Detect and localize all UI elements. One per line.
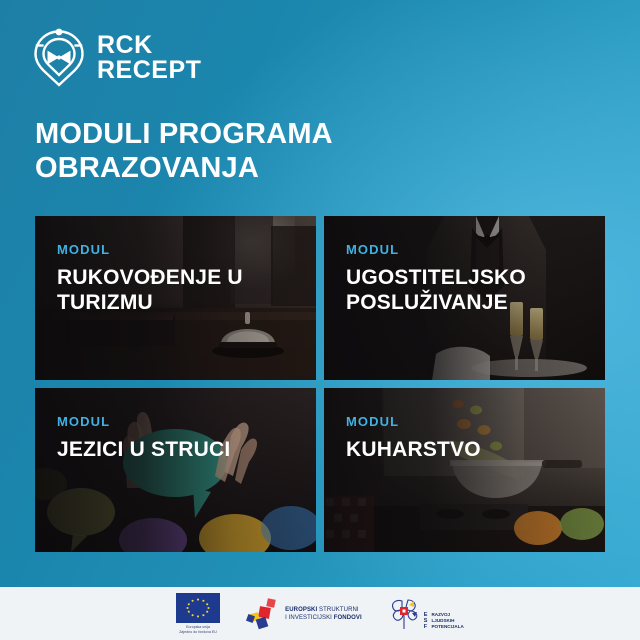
card-title: KUHARSTVO xyxy=(346,437,593,462)
esi-funds-wordmark: EUROPSKI STRUKTURNI I INVESTICIJSKI FOND… xyxy=(285,606,362,622)
esi-line-2-strong: FONDOVI xyxy=(334,615,362,621)
brand-logo: RCK RECEPT xyxy=(30,27,201,89)
brand-line-1: RCK xyxy=(97,33,201,58)
rck-pin-bowtie-logo-icon xyxy=(30,27,88,89)
card-title: JEZICI U STRUCI xyxy=(57,437,304,462)
card-title: RUKOVOĐENJE U TURIZMU xyxy=(57,265,304,315)
poster-canvas: RCK RECEPT MODULI PROGRAMA OBRAZOVANJA xyxy=(0,0,640,640)
eu-flag-icon xyxy=(176,593,220,623)
card-text-block: MODUL JEZICI U STRUCI xyxy=(57,414,304,462)
card-text-block: MODUL KUHARSTVO xyxy=(346,414,593,462)
page-title-line-2: OBRAZOVANJA xyxy=(35,151,515,185)
esi-line-2: I INVESTICIJSKI FONDOVI xyxy=(285,614,362,622)
card-overlay xyxy=(324,388,605,552)
eu-caption-line-2: Zajedno do fondova EU xyxy=(179,630,217,634)
esi-line-2-rest: I INVESTICIJSKI xyxy=(285,615,332,621)
card-kicker: MODUL xyxy=(346,414,593,430)
card-overlay xyxy=(35,388,316,552)
esi-funds-logo: EUROPSKI STRUKTURNI I INVESTICIJSKI FOND… xyxy=(246,598,362,630)
module-card-rukovodenje-u-turizmu[interactable]: MODUL RUKOVOĐENJE U TURIZMU xyxy=(35,216,316,380)
card-text-block: MODUL RUKOVOĐENJE U TURIZMU xyxy=(57,242,304,315)
module-card-ugostiteljsko-posluzivanje[interactable]: MODUL UGOSTITELJSKO POSLUŽIVANJE xyxy=(324,216,605,380)
eu-logo-caption: Europska unija Zajedno do fondova EU xyxy=(179,625,217,634)
card-kicker: MODUL xyxy=(57,242,304,258)
esf-logo: E S F RAZVOJ LJUDSKIH POTENCIJALA xyxy=(388,597,464,631)
page-title: MODULI PROGRAMA OBRAZOVANJA xyxy=(35,117,515,185)
esf-letters: E S F xyxy=(424,612,428,631)
esi-funds-cubes-icon xyxy=(246,598,280,630)
module-card-jezici-u-struci[interactable]: MODUL JEZICI U STRUCI xyxy=(35,388,316,552)
card-text-block: MODUL UGOSTITELJSKO POSLUŽIVANJE xyxy=(346,242,593,315)
esf-flower-icon xyxy=(388,597,420,631)
esf-words: RAZVOJ LJUDSKIH POTENCIJALA xyxy=(431,612,463,631)
esi-line-1-rest: STRUKTURNI xyxy=(319,607,359,613)
brand-wordmark: RCK RECEPT xyxy=(97,33,201,83)
module-card-kuharstvo[interactable]: MODUL KUHARSTVO xyxy=(324,388,605,552)
footer-logo-bar: Europska unija Zajedno do fondova EU EUR… xyxy=(0,587,640,640)
page-title-line-1: MODULI PROGRAMA xyxy=(35,117,515,151)
esi-line-1: EUROPSKI STRUKTURNI xyxy=(285,606,362,614)
card-kicker: MODUL xyxy=(346,242,593,258)
esf-word-3: POTENCIJALA xyxy=(431,624,463,630)
eu-logo: Europska unija Zajedno do fondova EU xyxy=(176,593,220,634)
esi-line-1-strong: EUROPSKI xyxy=(285,607,317,613)
card-title: UGOSTITELJSKO POSLUŽIVANJE xyxy=(346,265,593,315)
card-kicker: MODUL xyxy=(57,414,304,430)
esf-letter-f: F xyxy=(424,624,428,630)
module-card-grid: MODUL RUKOVOĐENJE U TURIZMU xyxy=(35,216,605,568)
brand-line-2: RECEPT xyxy=(97,58,201,83)
